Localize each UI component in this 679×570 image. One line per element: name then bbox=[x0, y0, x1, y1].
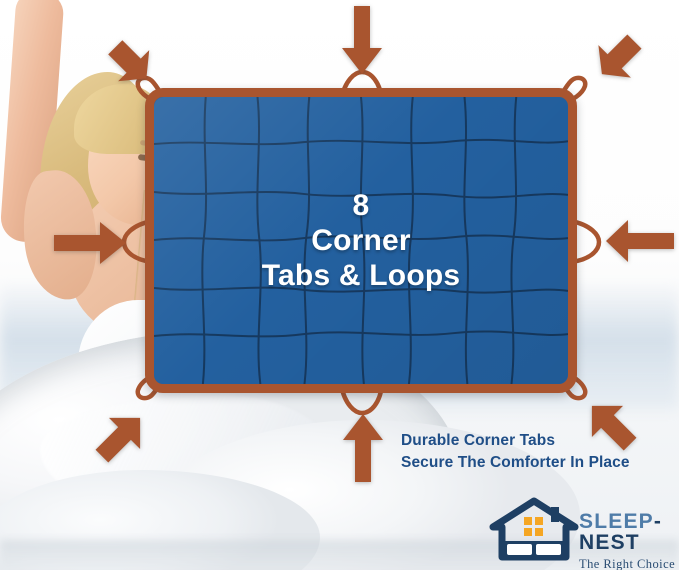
arrow-bottom-center bbox=[340, 412, 386, 484]
brand-slogan: The Right Choice For You bbox=[579, 557, 679, 570]
product-feature-image: 8 Corner Tabs & Loops bbox=[0, 0, 679, 570]
arrow-bottom-left bbox=[84, 400, 158, 474]
comforter-caption: 8 Corner Tabs & Loops bbox=[154, 187, 568, 293]
tagline-line-2: Secure The Comforter In Place bbox=[401, 452, 630, 474]
arrow-top-center bbox=[338, 4, 386, 78]
comforter-graphic: 8 Corner Tabs & Loops bbox=[145, 88, 577, 393]
arrow-top-right bbox=[584, 18, 658, 92]
caption-line-1: 8 bbox=[154, 187, 568, 222]
caption-line-2: Corner bbox=[154, 223, 568, 258]
caption-line-3: Tabs & Loops bbox=[154, 258, 568, 293]
arrow-left-middle bbox=[52, 218, 128, 268]
tagline: Durable Corner Tabs Secure The Comforter… bbox=[401, 430, 630, 475]
brand-part-2: NEST bbox=[579, 531, 640, 554]
brand-part-1: SLEEP bbox=[579, 510, 654, 533]
arrow-top-left bbox=[92, 24, 164, 96]
house-with-bed-icon bbox=[487, 497, 581, 561]
brand-logo: SLEEP-NEST The Right Choice For You bbox=[487, 497, 673, 563]
tagline-line-1: Durable Corner Tabs bbox=[401, 430, 630, 452]
brand-wordmark: SLEEP-NEST bbox=[579, 511, 679, 553]
arrow-right-middle bbox=[604, 216, 676, 266]
brand-dash: - bbox=[654, 510, 662, 533]
brand-wordmark-group: SLEEP-NEST The Right Choice For You bbox=[579, 511, 679, 570]
